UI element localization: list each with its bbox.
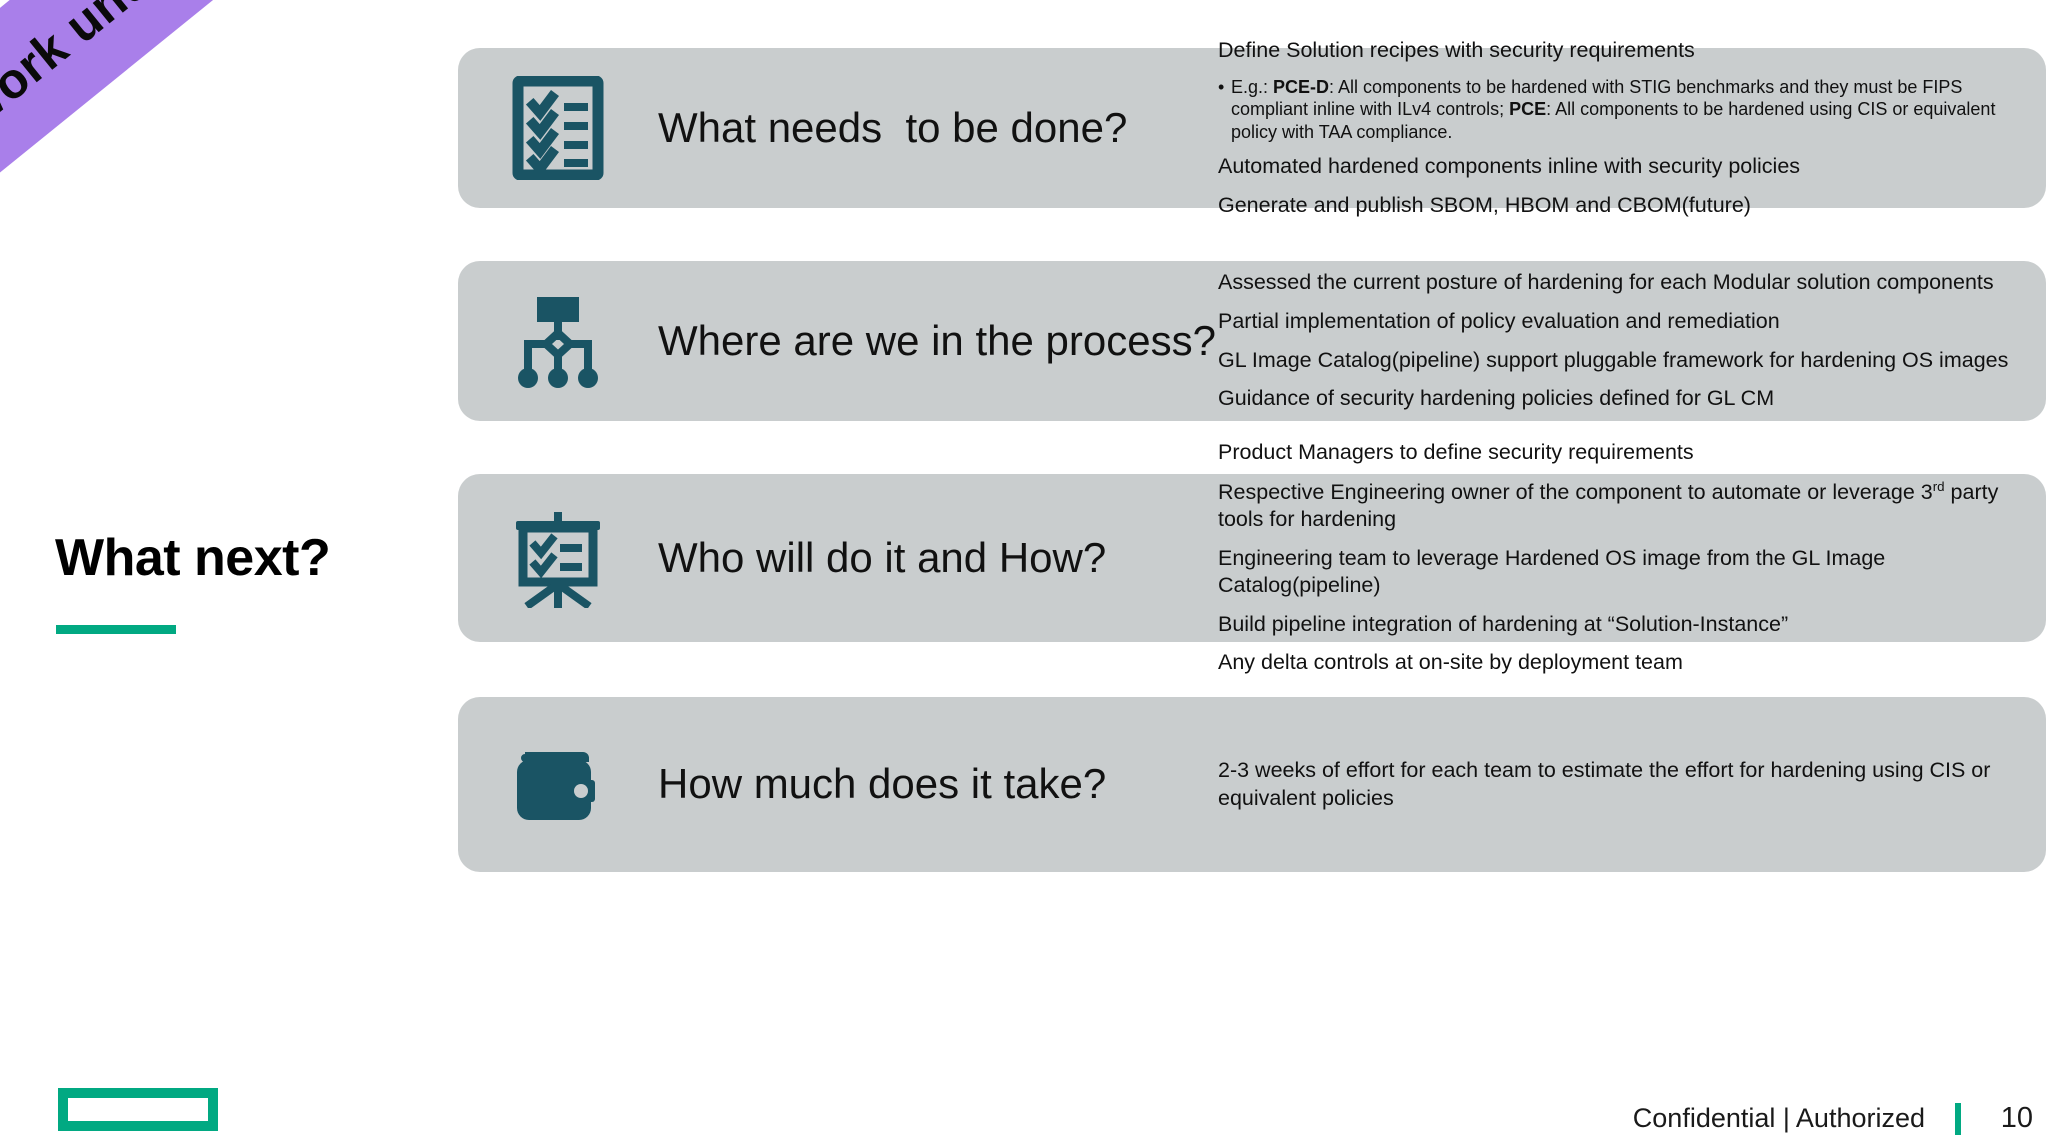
bullet-item-third-party: Respective Engineering owner of the comp… [1218, 478, 2024, 534]
bullet-item: Engineering team to leverage Hardened OS… [1218, 545, 2024, 600]
content-cards: What needs to be done? Define Solution r… [458, 48, 2046, 872]
card-bullet-list: Assessed the current posture of hardenin… [1218, 269, 2046, 412]
card-bullet-list: Product Managers to define security requ… [1218, 439, 2046, 677]
bullet-item: Define Solution recipes with security re… [1218, 37, 2024, 65]
card-where-are-we-in-the-process[interactable]: Where are we in the process? Assessed th… [458, 261, 2046, 421]
card-how-much-does-it-take[interactable]: How much does it take? 2-3 weeks of effo… [458, 697, 2046, 872]
page-title: What next? [55, 528, 330, 588]
classification-label: Confidential | Authorized [1633, 1103, 1925, 1134]
presentation-board-icon [458, 508, 658, 608]
bullet-item: Automated hardened components inline wit… [1218, 153, 2024, 181]
wallet-icon [458, 746, 658, 824]
bullet-item: Guidance of security hardening policies … [1218, 385, 2024, 413]
bullet-item: Any delta controls at on-site by deploym… [1218, 649, 2024, 677]
bullet-item: Partial implementation of policy evaluat… [1218, 308, 2024, 336]
title-accent-bar [56, 625, 176, 634]
card-bullet-list: 2-3 weeks of effort for each team to est… [1218, 757, 2046, 812]
bullet-bold-pce: PCE [1509, 99, 1546, 119]
bullet-item: Assessed the current posture of hardenin… [1218, 269, 2024, 297]
bullet-item: Product Managers to define security requ… [1218, 439, 2024, 467]
bullet-dot: • [1218, 76, 1224, 99]
bullet-pre: Respective Engineering owner of the comp… [1218, 480, 1933, 504]
clipboard-checklist-icon [458, 76, 658, 180]
card-bullet-list: Define Solution recipes with security re… [1218, 37, 2046, 219]
card-heading: What needs to be done? [658, 104, 1218, 152]
hpe-logo [58, 1088, 218, 1131]
bullet-item: GL Image Catalog(pipeline) support plugg… [1218, 347, 2024, 375]
card-what-needs-to-be-done[interactable]: What needs to be done? Define Solution r… [458, 48, 2046, 208]
bullet-item: Generate and publish SBOM, HBOM and CBOM… [1218, 192, 2024, 220]
card-heading: Where are we in the process? [658, 317, 1218, 365]
card-heading: How much does it take? [658, 760, 1218, 808]
bullet-item-example: •E.g.: PCE-D: All components to be harde… [1218, 76, 2024, 144]
hierarchy-chart-icon [458, 293, 658, 389]
footer-separator [1955, 1103, 1961, 1135]
bullet-superscript: rd [1933, 479, 1945, 494]
watermark-label: Work under Progress [0, 0, 383, 143]
card-who-will-do-it-and-how[interactable]: Who will do it and How? Product Managers… [458, 474, 2046, 642]
bullet-bold-pce-d: PCE-D [1273, 77, 1329, 97]
footer: Confidential | Authorized 10 [1633, 1102, 2033, 1135]
page-number: 10 [1991, 1102, 2033, 1135]
bullet-item: Build pipeline integration of hardening … [1218, 611, 2024, 639]
card-heading: Who will do it and How? [658, 534, 1218, 582]
work-under-progress-watermark: Work under Progress [0, 0, 453, 209]
bullet-item: 2-3 weeks of effort for each team to est… [1218, 757, 2024, 812]
bullet-prefix: E.g.: [1231, 77, 1273, 97]
